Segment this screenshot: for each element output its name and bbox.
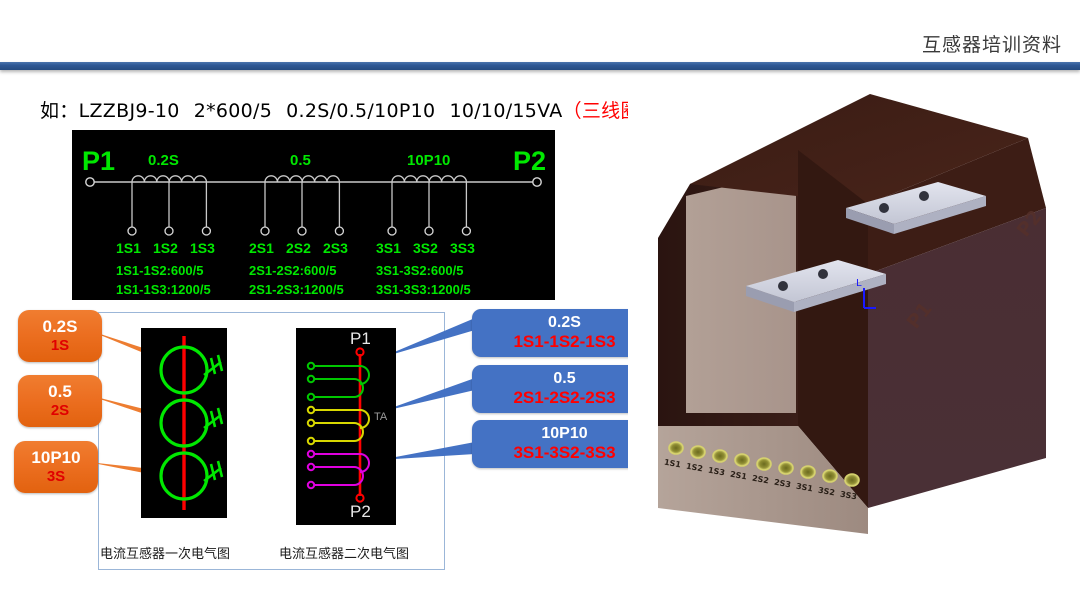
page-title: 互感器培训资料 [922, 30, 1062, 57]
schematic-terminal-2s3: 2S3 [323, 240, 348, 256]
schematic-terminal-3s3: 3S3 [450, 240, 475, 256]
secondary-circuit-svg [296, 328, 396, 525]
orange-callout-10p10[interactable]: 10P10 3S [14, 441, 98, 493]
schematic-terminal-3s2: 3S2 [413, 240, 438, 256]
schematic-group-title-2: 0.5 [290, 152, 311, 169]
orange-callout-10p10-line1: 10P10 [31, 448, 80, 468]
schematic-ratio-line-2a: 2S1-2S2:600/5 [249, 261, 336, 280]
orange-callout-0.5-line2: 2S [51, 402, 69, 420]
orange-callout-0.5-line1: 0.5 [48, 382, 72, 402]
orange-callout-0.2s-line1: 0.2S [43, 317, 78, 337]
primary-diagram-caption: 电流互感器一次电气图 [100, 543, 230, 562]
winding-schematic-panel: P1 P2 0.2S 0.5 10P10 1S1 1S2 1S3 2S1 2S2… [72, 130, 555, 300]
subtitle-model: LZZBJ9-10 [79, 100, 180, 122]
orange-callout-0.2s[interactable]: 0.2S 1S [18, 310, 102, 362]
blue-callout-0.2s-line1: 0.2S [548, 314, 581, 332]
schematic-terminal-2s1: 2S1 [249, 240, 274, 256]
schematic-terminal-1s3: 1S3 [190, 240, 215, 256]
header-divider-bar [0, 62, 1080, 70]
secondary-circuit-diagram: P1 P2 TA [296, 328, 396, 525]
subtitle-prefix: 如： [40, 100, 79, 122]
schematic-terminal-1s1: 1S1 [116, 240, 141, 256]
subtitle-burden: 10/10/15VA [449, 100, 562, 122]
secondary-diagram-caption: 电流互感器二次电气图 [279, 543, 409, 562]
schematic-group-title-3: 10P10 [407, 152, 450, 169]
subtitle-ratio: 2*600/5 [194, 100, 272, 122]
primary-circuit-diagram [141, 328, 227, 518]
subtitle-line: 如：LZZBJ9-102*600/50.2S/0.5/10P1010/10/15… [40, 96, 723, 123]
schematic-ratio-line-1a: 1S1-1S2:600/5 [116, 261, 203, 280]
blue-callout-10p10-line1: 10P10 [541, 425, 587, 443]
schematic-ratio-line-2b: 2S1-2S3:1200/5 [249, 280, 344, 299]
schematic-group-title-1: 0.2S [148, 152, 179, 169]
blue-callout-0.5-line1: 0.5 [553, 370, 575, 388]
schematic-terminal-3s1: 3S1 [376, 240, 401, 256]
schematic-ratio-line-1b: 1S1-1S3:1200/5 [116, 280, 211, 299]
schematic-terminal-2s2: 2S2 [286, 240, 311, 256]
subtitle-accuracy: 0.2S/0.5/10P10 [286, 100, 435, 122]
blue-callout-10p10-line2: 3S1-3S2-3S3 [513, 443, 615, 463]
orange-callout-0.2s-line2: 1S [51, 337, 69, 355]
secondary-ta-label: TA [374, 411, 387, 423]
schematic-ratio-line-3b: 3S1-3S3:1200/5 [376, 280, 471, 299]
product-photo: P1 P2 L 1S1 1S2 1S3 2S1 [628, 78, 1080, 534]
schematic-ratio-line-3a: 3S1-3S2:600/5 [376, 261, 463, 280]
axis-label: L [856, 278, 862, 289]
secondary-p1-label: P1 [350, 329, 371, 349]
secondary-p2-label: P2 [350, 502, 371, 522]
orange-callout-0.5[interactable]: 0.5 2S [18, 375, 102, 427]
schematic-p1-label: P1 [82, 148, 115, 175]
blue-callout-0.5-line2: 2S1-2S2-2S3 [513, 388, 615, 408]
slide-root: 互感器培训资料 如：LZZBJ9-102*600/50.2S/0.5/10P10… [0, 0, 1080, 607]
schematic-terminal-1s2: 1S2 [153, 240, 178, 256]
orange-callout-10p10-line2: 3S [47, 468, 65, 486]
schematic-p2-label: P2 [513, 148, 546, 175]
primary-circuit-svg [141, 328, 227, 518]
blue-callout-0.2s-line2: 1S1-1S2-1S3 [513, 332, 615, 352]
